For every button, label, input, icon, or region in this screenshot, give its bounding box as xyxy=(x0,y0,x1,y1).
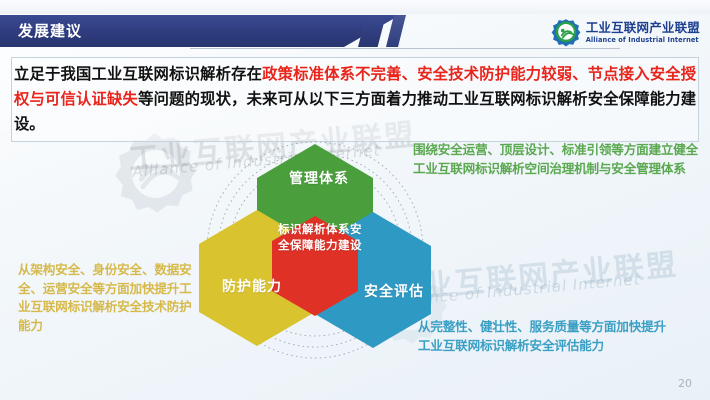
slide-canvas: 工业互联网产业联盟 Alliance of Industrial Interne… xyxy=(0,0,710,400)
logo-text: 工业互联网产业联盟 Alliance of Industrial Interne… xyxy=(586,22,700,44)
summary-text-box: 立足于我国工业互联网标识解析存在政策标准体系不完善、安全技术防护能力较弱、节点接… xyxy=(11,57,699,142)
page-title: 发展建议 xyxy=(18,21,82,41)
page-number: 20 xyxy=(678,377,692,390)
hexagon-label-center: 标识解析体系安全保障能力建设 xyxy=(274,222,366,253)
alliance-logo: 工业互联网产业联盟 Alliance of Industrial Interne… xyxy=(551,18,700,48)
summary-paragraph: 立足于我国工业互联网标识解析存在政策标准体系不完善、安全技术防护能力较弱、节点接… xyxy=(14,62,696,137)
logo-title-en: Alliance of Industrial Internet xyxy=(586,37,700,44)
logo-title-cn: 工业互联网产业联盟 xyxy=(586,22,700,35)
header-divider xyxy=(190,48,620,49)
hexagon-label-assessment: 安全评估 xyxy=(364,281,424,301)
summary-segment-plain-1: 立足于我国工业互联网标识解析存在 xyxy=(14,65,262,83)
hexagon-label-management: 管理体系 xyxy=(289,168,349,188)
note-protection-capability: 从架构安全、身份安全、数据安全、运营安全等方面加快提升工业互联网标识解析安全技术… xyxy=(18,261,196,335)
note-management-system: 围绕安全运营、顶层设计、标准引领等方面建立健全工业互联网标识解析空间治理机制与安… xyxy=(413,141,703,178)
note-assessment-capability: 从完整性、健壮性、服务质量等方面加快提升工业互联网标识解析安全评估能力 xyxy=(418,318,676,355)
hexagon-label-protection: 防护能力 xyxy=(222,276,282,296)
alliance-gear-icon xyxy=(551,18,581,48)
top-band xyxy=(0,0,710,14)
